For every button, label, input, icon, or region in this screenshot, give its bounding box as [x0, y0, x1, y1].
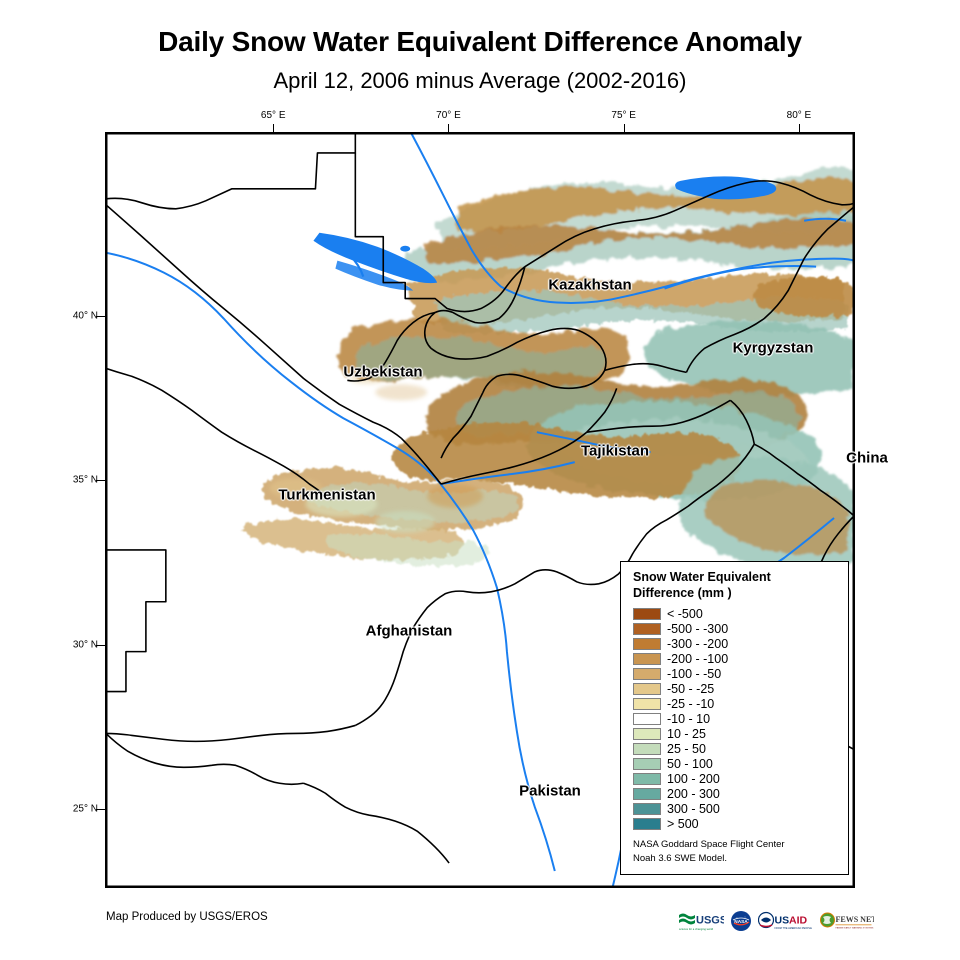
map-page: Daily Snow Water Equivalent Difference A… [0, 0, 960, 960]
svg-text:AID: AID [789, 915, 808, 927]
lon-tick-label-2: 75° E [611, 110, 636, 121]
map-legend[interactable]: Snow Water Equivalent Difference (mm ) <… [620, 561, 849, 875]
lon-tick-label-1: 70° E [436, 110, 461, 121]
legend-swatch [633, 653, 661, 665]
legend-title: Snow Water Equivalent Difference (mm ) [633, 570, 848, 601]
legend-swatch [633, 683, 661, 695]
legend-swatch [633, 608, 661, 620]
legend-title-line2: Difference (mm ) [633, 586, 848, 602]
country-label-pakistan: Pakistan [519, 783, 581, 800]
svg-text:FAMINE EARLY WARNING SYSTEMS N: FAMINE EARLY WARNING SYSTEMS NETWORK [836, 927, 875, 930]
legend-credit-line2: Noah 3.6 SWE Model. [633, 852, 848, 866]
legend-label: 200 - 300 [667, 788, 720, 801]
legend-row: 50 - 100 [633, 756, 848, 771]
usaid-logo[interactable]: US AID FROM THE AMERICAN PEOPLE [758, 909, 814, 933]
lon-tick-label-0: 65° E [261, 110, 286, 121]
lon-tick-label-3: 80° E [787, 110, 812, 121]
legend-label: -25 - -10 [667, 698, 714, 711]
legend-label: < -500 [667, 608, 703, 621]
lat-tick-mark-3 [96, 809, 105, 810]
svg-text:NASA: NASA [734, 919, 748, 925]
country-label-tajikistan: Tajikistan [581, 443, 649, 460]
legend-class-list: < -500-500 - -300-300 - -200-200 - -100-… [633, 606, 848, 831]
legend-swatch [633, 803, 661, 815]
svg-text:science for a changing world: science for a changing world [679, 927, 714, 931]
svg-text:US: US [775, 915, 790, 927]
nasa-logo[interactable]: NASA [730, 909, 752, 933]
legend-row: 25 - 50 [633, 741, 848, 756]
legend-label: -10 - 10 [667, 713, 710, 726]
legend-row: -100 - -50 [633, 666, 848, 681]
lat-tick-mark-1 [96, 480, 105, 481]
svg-text:FEWS NET: FEWS NET [836, 915, 875, 924]
country-label-afghanistan: Afghanistan [366, 623, 453, 640]
legend-label: -200 - -100 [667, 653, 728, 666]
legend-row: 300 - 500 [633, 801, 848, 816]
svg-text:USGS: USGS [696, 915, 724, 927]
legend-row: 200 - 300 [633, 786, 848, 801]
legend-label: -500 - -300 [667, 623, 728, 636]
legend-swatch [633, 788, 661, 800]
legend-row: 100 - 200 [633, 771, 848, 786]
legend-swatch [633, 713, 661, 725]
legend-label: 50 - 100 [667, 758, 713, 771]
producer-credit: Map Produced by USGS/EROS [106, 911, 268, 923]
legend-credit-line1: NASA Goddard Space Flight Center [633, 838, 848, 852]
legend-row: -500 - -300 [633, 621, 848, 636]
fewsnet-logo[interactable]: FEWS NET FAMINE EARLY WARNING SYSTEMS NE… [820, 909, 874, 933]
legend-swatch [633, 743, 661, 755]
legend-swatch [633, 773, 661, 785]
legend-row: < -500 [633, 606, 848, 621]
lat-tick-label-0: 40° N [58, 311, 98, 322]
legend-row: -10 - 10 [633, 711, 848, 726]
legend-label: > 500 [667, 818, 699, 831]
page-title: Daily Snow Water Equivalent Difference A… [0, 26, 960, 58]
country-label-kazakhstan: Kazakhstan [548, 277, 631, 294]
legend-swatch [633, 698, 661, 710]
lat-tick-label-2: 30° N [58, 639, 98, 650]
lat-tick-mark-0 [96, 316, 105, 317]
legend-swatch [633, 668, 661, 680]
legend-label: 100 - 200 [667, 773, 720, 786]
legend-row: -50 - -25 [633, 681, 848, 696]
country-label-kyrgyzstan: Kyrgyzstan [733, 340, 814, 357]
legend-row: -300 - -200 [633, 636, 848, 651]
lat-tick-mark-2 [96, 645, 105, 646]
legend-swatch [633, 818, 661, 830]
agency-logos: USGS science for a changing world NASA U… [678, 906, 860, 936]
legend-label: 10 - 25 [667, 728, 706, 741]
page-subtitle: April 12, 2006 minus Average (2002-2016) [0, 68, 960, 94]
lat-tick-label-1: 35° N [58, 475, 98, 486]
legend-credit: NASA Goddard Space Flight Center Noah 3.… [633, 838, 848, 866]
legend-swatch [633, 728, 661, 740]
lat-tick-label-3: 25° N [58, 804, 98, 815]
legend-label: -300 - -200 [667, 638, 728, 651]
country-label-uzbekistan: Uzbekistan [343, 364, 422, 381]
legend-swatch [633, 638, 661, 650]
legend-label: -50 - -25 [667, 683, 714, 696]
legend-row: > 500 [633, 816, 848, 831]
legend-label: 25 - 50 [667, 743, 706, 756]
legend-swatch [633, 758, 661, 770]
legend-title-line1: Snow Water Equivalent [633, 570, 848, 586]
usgs-logo[interactable]: USGS science for a changing world [678, 909, 724, 933]
legend-row: -25 - -10 [633, 696, 848, 711]
country-label-turkmenistan: Turkmenistan [278, 487, 375, 504]
legend-row: 10 - 25 [633, 726, 848, 741]
legend-label: -100 - -50 [667, 668, 721, 681]
country-label-china: China [846, 450, 888, 467]
legend-row: -200 - -100 [633, 651, 848, 666]
legend-label: 300 - 500 [667, 803, 720, 816]
legend-swatch [633, 623, 661, 635]
svg-text:FROM THE AMERICAN PEOPLE: FROM THE AMERICAN PEOPLE [775, 927, 813, 930]
